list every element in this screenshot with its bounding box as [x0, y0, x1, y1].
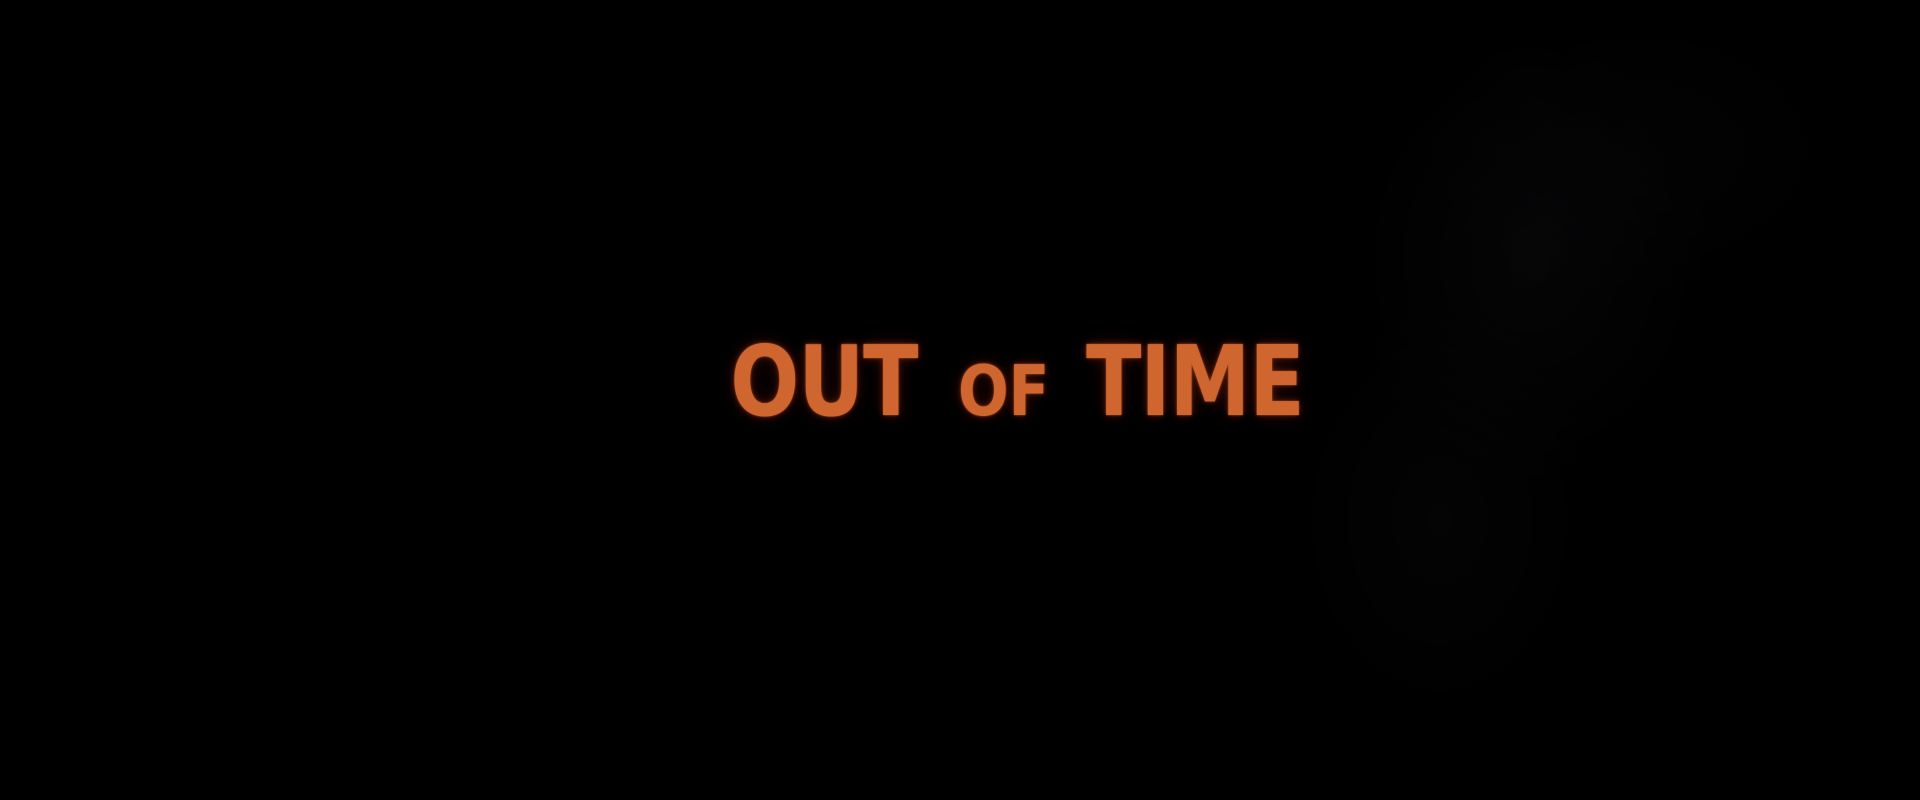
title-stage: OUT OF TIME: [0, 0, 1920, 800]
main-title: OUT OF TIME: [720, 332, 1315, 432]
title-card-frame: OUT OF TIME: [0, 0, 1920, 800]
title-word-out: OUT: [731, 334, 918, 431]
title-word-of: OF: [958, 356, 1049, 426]
title-word-time: TIME: [1086, 334, 1304, 431]
